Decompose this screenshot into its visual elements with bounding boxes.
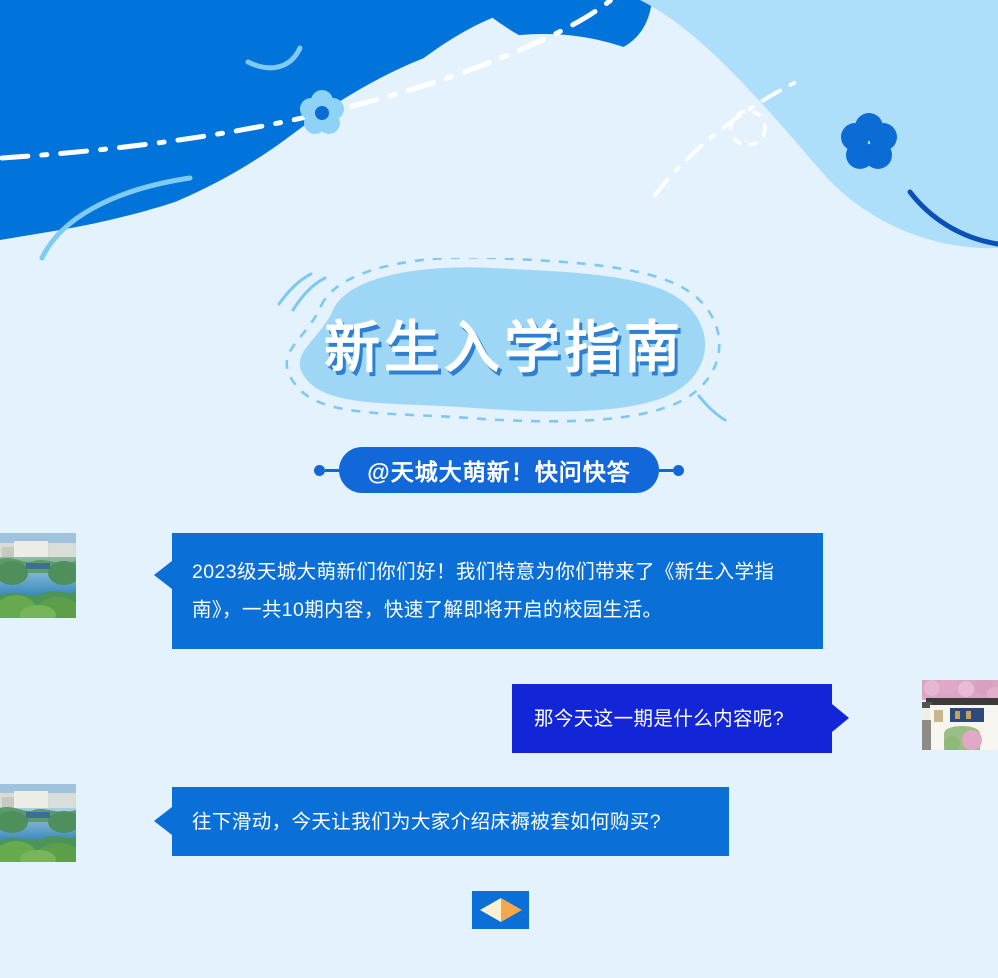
pill-stem-right-icon xyxy=(659,469,673,472)
bubble-tail-right-icon xyxy=(832,704,849,732)
bubble-tail-left-icon xyxy=(154,807,172,835)
campus-lake-photo xyxy=(0,533,76,618)
header-decoration-band xyxy=(0,0,998,262)
chat-bubble-2-text: 那今天这一期是什么内容呢? xyxy=(534,700,784,738)
subtitle-pill[interactable]: @天城大萌新！快问快答 xyxy=(339,447,658,493)
title-block: 新生入学指南 xyxy=(255,258,745,428)
next-arrow-icon xyxy=(479,897,523,923)
chat-bubble-3-text: 往下滑动，今天让我们为大家介绍床褥被套如何购买? xyxy=(192,803,661,841)
chat-bubble-1-text: 2023级天城大萌新们你们好！我们特意为你们带来了《新生入学指南》，一共10期内… xyxy=(192,553,799,629)
page-title: 新生入学指南 xyxy=(255,258,745,428)
chat-bubble-2: 那今天这一期是什么内容呢? xyxy=(512,684,832,753)
chat-bubble-1: 2023级天城大萌新们你们好！我们特意为你们带来了《新生入学指南》，一共10期内… xyxy=(172,533,823,649)
pill-stem-left-icon xyxy=(325,469,339,472)
poster-canvas: 新生入学指南 @天城大萌新！快问快答 2023级天城大萌新们你们好！我们特意为你… xyxy=(0,0,998,978)
pill-dot-left-icon xyxy=(314,465,325,476)
next-button[interactable] xyxy=(472,891,529,929)
subtitle-row: @天城大萌新！快问快答 xyxy=(0,444,998,496)
campus-gate-photo xyxy=(922,680,998,750)
campus-lake-photo xyxy=(0,784,76,862)
chat-bubble-3: 往下滑动，今天让我们为大家介绍床褥被套如何购买? xyxy=(172,787,729,856)
bubble-tail-left-icon xyxy=(154,561,172,589)
pill-dot-right-icon xyxy=(673,465,684,476)
